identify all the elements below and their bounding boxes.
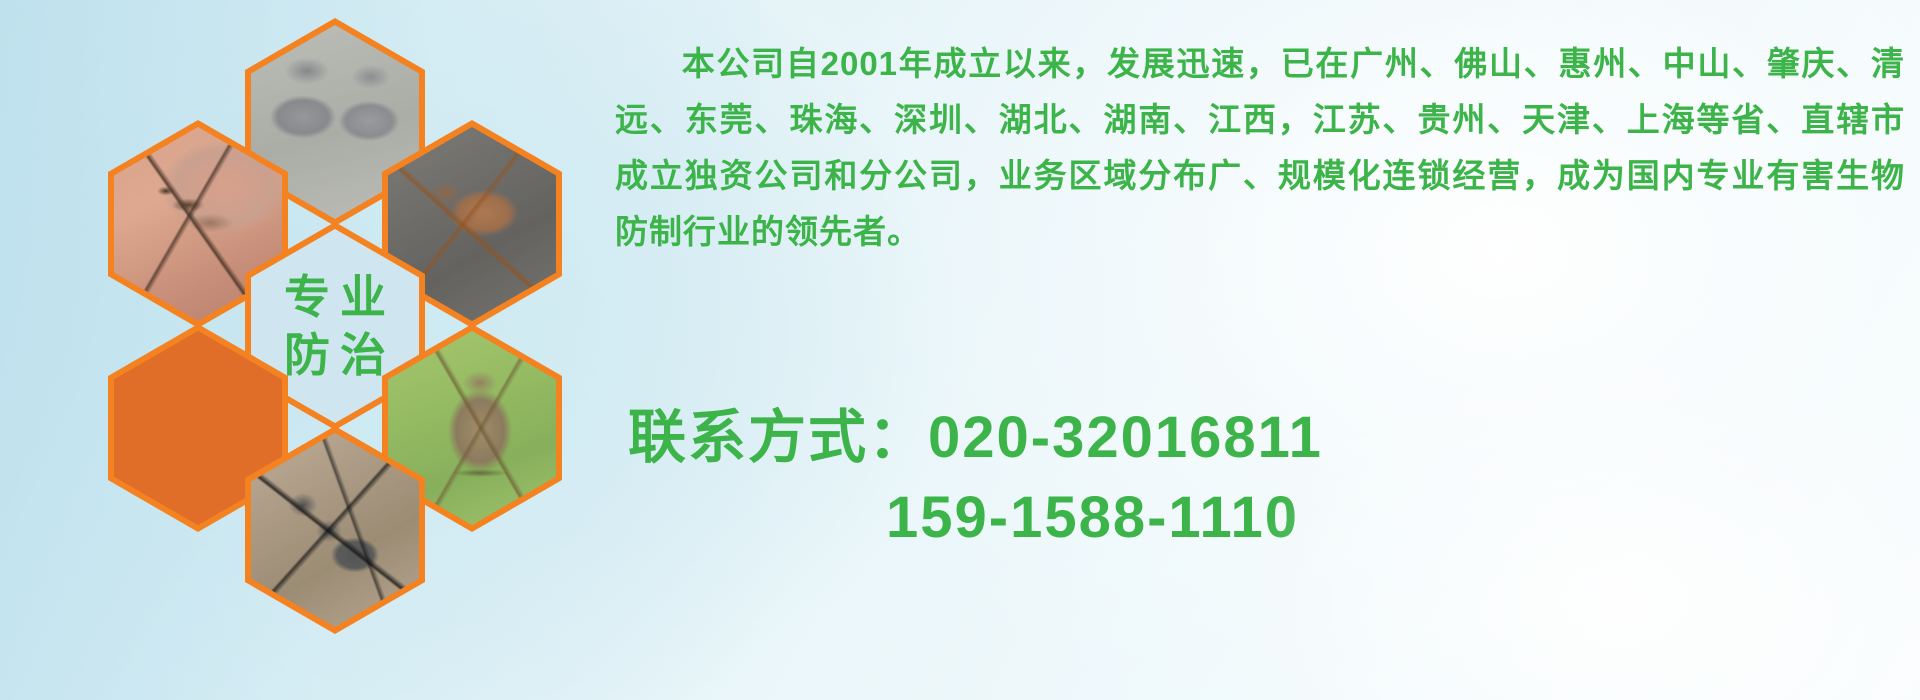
- logo-line-2: 防治: [274, 331, 396, 379]
- hex-photo-cluster: 专业 防治: [90, 10, 590, 570]
- logo-line-1: 专业: [274, 273, 396, 321]
- contact-block: 联系方式：020-32016811 159-1588-1110: [628, 398, 1918, 558]
- ant-photo: [251, 433, 419, 627]
- intro-paragraph-text: 本公司自2001年成立以来，发展迅速，已在广州、佛山、惠州、中山、肇庆、清远、东…: [615, 45, 1905, 250]
- promo-banner: 专业 防治 本公司自2001年成立以来，发展迅速，已在广州、佛山、惠州、中山、肇…: [0, 0, 1920, 700]
- contact-primary-line[interactable]: 联系方式：020-32016811: [628, 398, 1918, 478]
- intro-paragraph: 本公司自2001年成立以来，发展迅速，已在广州、佛山、惠州、中山、肇庆、清远、东…: [615, 36, 1905, 260]
- intro-copy: 本公司自2001年成立以来，发展迅速，已在广州、佛山、惠州、中山、肇庆、清远、东…: [615, 36, 1905, 260]
- contact-secondary-line[interactable]: 159-1588-1110: [628, 478, 1918, 558]
